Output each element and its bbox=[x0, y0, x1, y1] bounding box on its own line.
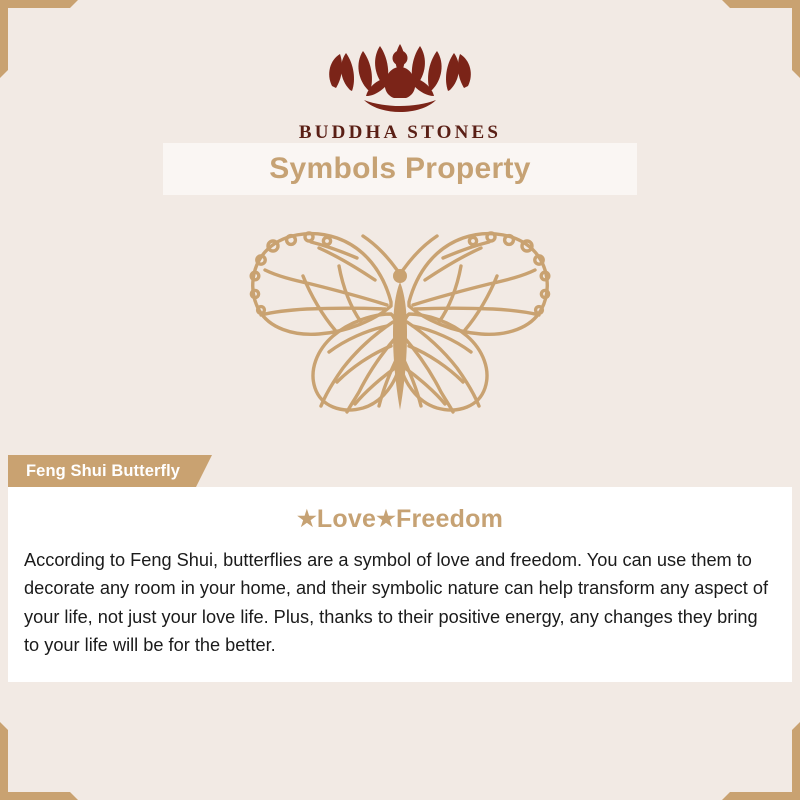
brand-logo-block: BUDDHA STONES bbox=[0, 20, 800, 144]
brand-name: BUDDHA STONES bbox=[0, 122, 800, 144]
subtitle-word-love: Love bbox=[317, 505, 376, 533]
content-paragraph: According to Feng Shui, butterflies are … bbox=[24, 546, 776, 660]
title-bar: Symbols Property bbox=[163, 143, 637, 195]
butterfly-icon bbox=[215, 210, 585, 435]
content-subtitle: ★Love★Freedom bbox=[8, 505, 792, 534]
bottom-background bbox=[8, 682, 792, 792]
star-right-icon: ★ bbox=[376, 506, 396, 531]
lotus-meditation-figure-icon bbox=[300, 20, 500, 120]
star-left-icon: ★ bbox=[297, 506, 317, 531]
content-panel: ★Love★Freedom According to Feng Shui, bu… bbox=[8, 487, 792, 682]
section-tag: Feng Shui Butterfly bbox=[8, 455, 196, 487]
page-title: Symbols Property bbox=[269, 152, 531, 186]
subtitle-word-freedom: Freedom bbox=[396, 505, 503, 533]
artwork-area bbox=[0, 205, 800, 440]
poster-page: BUDDHA STONES Symbols Property bbox=[0, 0, 800, 800]
section-tag-label: Feng Shui Butterfly bbox=[26, 462, 180, 481]
